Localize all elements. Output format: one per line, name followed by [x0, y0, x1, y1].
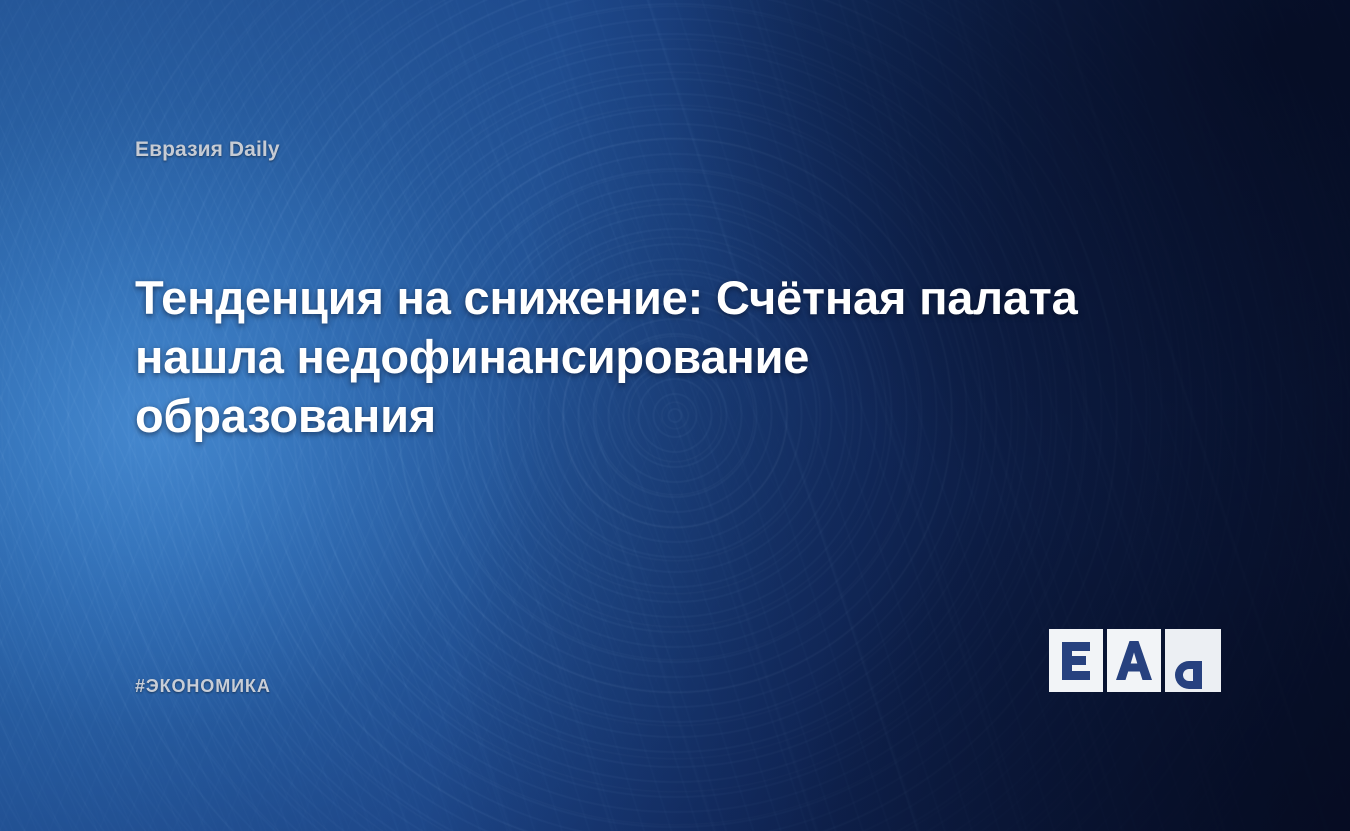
logo-tile-d-split [1165, 629, 1221, 692]
logo-tile-a [1107, 629, 1161, 692]
article-headline: Тенденция на снижение: Счётная палата на… [135, 268, 1120, 446]
eadaily-logo [1049, 629, 1221, 692]
social-share-card: Евразия Daily Тенденция на снижение: Счё… [0, 0, 1350, 831]
logo-tile-e [1049, 629, 1103, 692]
card-content: Евразия Daily Тенденция на снижение: Счё… [0, 0, 1350, 831]
publication-name: Евразия Daily [135, 138, 280, 162]
category-tag: #ЭКОНОМИКА [135, 676, 271, 697]
